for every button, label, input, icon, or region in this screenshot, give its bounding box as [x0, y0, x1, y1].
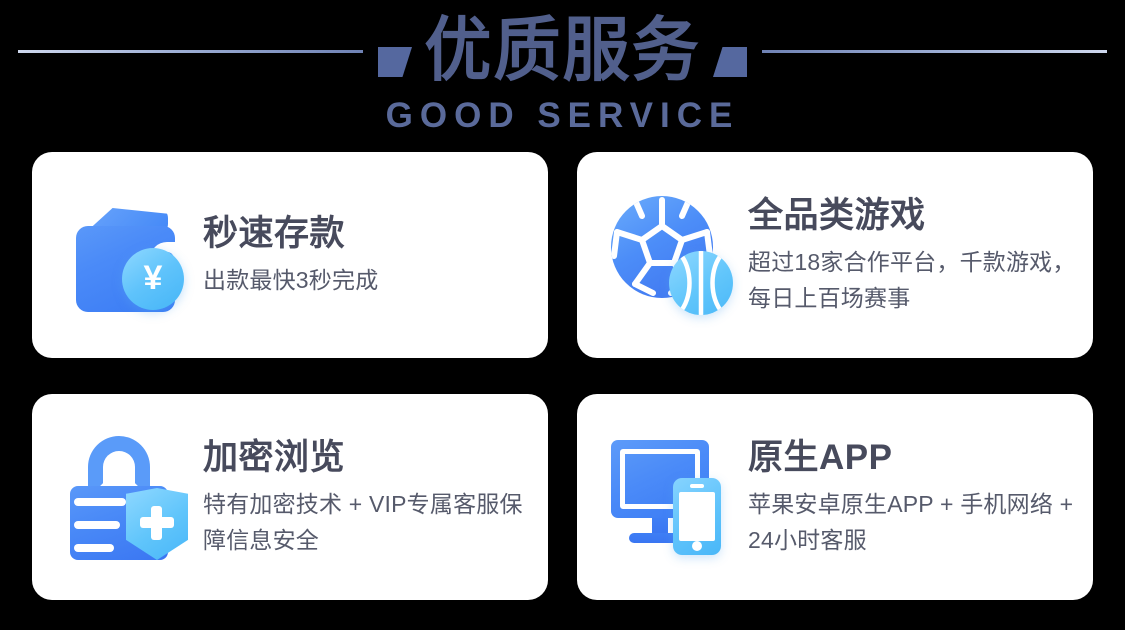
service-card-encryption[interactable]: 加密浏览 特有加密技术 + VIP专属客服保障信息安全 — [32, 394, 548, 600]
card-text-deposit: 秒速存款 出款最快3秒完成 — [203, 213, 378, 298]
phone-home-button — [692, 541, 702, 551]
plus-vertical — [151, 506, 162, 540]
page-title: 优质服务 — [23, 12, 1103, 88]
card-title: 原生APP — [748, 437, 1078, 479]
mobile-phone-icon — [673, 478, 721, 555]
wallet-icon: ¥ — [64, 190, 189, 320]
service-card-deposit[interactable]: ¥ 秒速存款 出款最快3秒完成 — [32, 152, 548, 358]
soccer-ball-icon — [609, 190, 734, 320]
devices-shape — [611, 440, 733, 555]
lock-slot — [74, 498, 126, 506]
card-title: 加密浏览 — [203, 437, 523, 479]
card-title: 全品类游戏 — [748, 195, 1078, 237]
service-card-games[interactable]: 全品类游戏 超过18家合作平台，千款游戏，每日上百场赛事 — [577, 152, 1093, 358]
monitor-icon — [609, 432, 734, 562]
card-text-games: 全品类游戏 超过18家合作平台，千款游戏，每日上百场赛事 — [748, 195, 1078, 316]
lock-shape — [68, 436, 188, 560]
yen-symbol: ¥ — [144, 261, 163, 295]
card-description: 特有加密技术 + VIP专属客服保障信息安全 — [203, 486, 523, 558]
phone-screen — [679, 492, 715, 541]
padlock-icon — [64, 432, 189, 562]
yen-coin-icon: ¥ — [122, 248, 184, 310]
card-description: 超过18家合作平台，千款游戏，每日上百场赛事 — [748, 244, 1078, 316]
card-text-encryption: 加密浏览 特有加密技术 + VIP专属客服保障信息安全 — [203, 437, 523, 558]
card-title: 秒速存款 — [203, 213, 378, 255]
card-description: 苹果安卓原生APP + 手机网络 + 24小时客服 — [748, 486, 1078, 558]
good-service-panel: 优质服务 GOOD SERVICE ¥ 秒速存款 出款最快3秒完成 — [0, 0, 1125, 630]
basketball-icon — [669, 251, 733, 315]
card-description: 出款最快3秒完成 — [203, 262, 378, 298]
basketball-seams-icon — [669, 251, 733, 315]
lock-slot — [74, 544, 114, 552]
service-card-grid: ¥ 秒速存款 出款最快3秒完成 — [32, 152, 1093, 600]
page-subtitle: GOOD SERVICE — [0, 96, 1125, 136]
section-header: 优质服务 GOOD SERVICE — [0, 0, 1125, 148]
phone-speaker — [690, 484, 704, 488]
service-card-native-app[interactable]: 原生APP 苹果安卓原生APP + 手机网络 + 24小时客服 — [577, 394, 1093, 600]
lock-slot — [74, 521, 120, 529]
balls-shape — [611, 196, 733, 318]
card-text-native-app: 原生APP 苹果安卓原生APP + 手机网络 + 24小时客服 — [748, 437, 1078, 558]
